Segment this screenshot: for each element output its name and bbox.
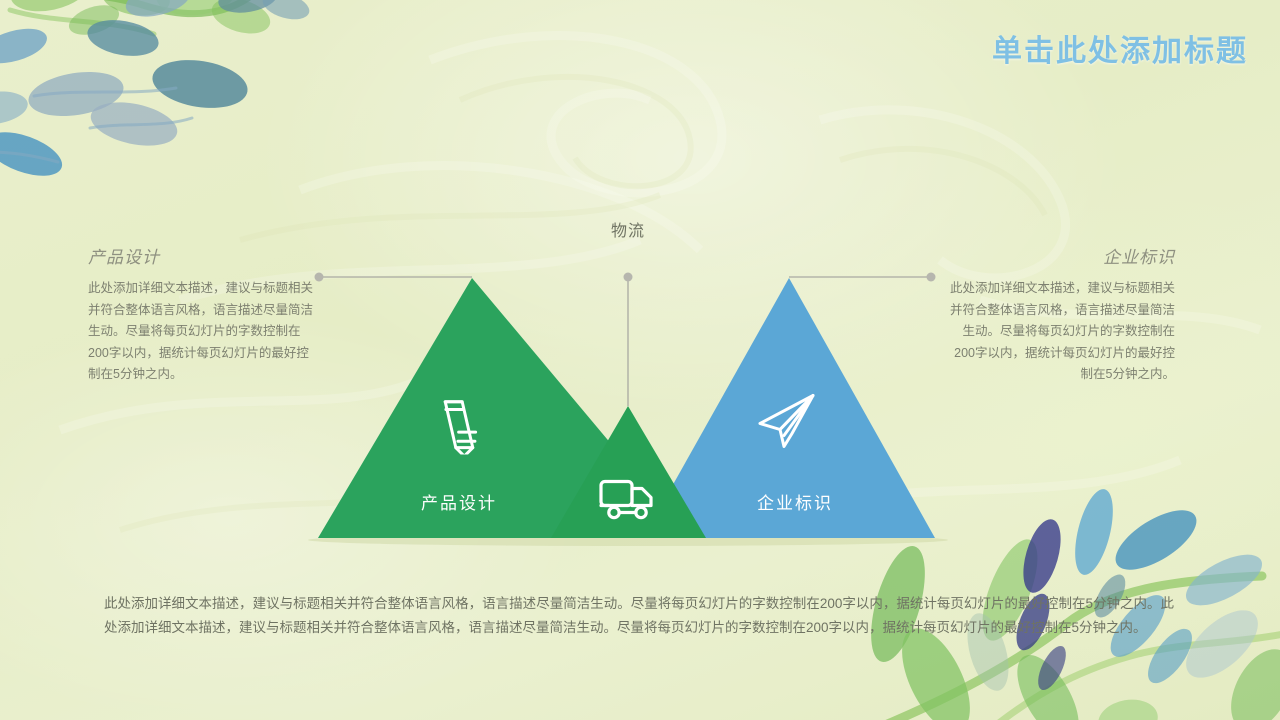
truck-icon <box>598 476 656 527</box>
shape-label-right: 企业标识 <box>757 489 833 514</box>
left-text-block: 产品设计 此处添加详细文本描述，建议与标题相关并符合整体语言风格，语言描述尽量简… <box>88 243 313 386</box>
right-block-heading: 企业标识 <box>950 243 1175 268</box>
paper-plane-icon <box>756 392 820 457</box>
shape-label-left: 产品设计 <box>421 489 497 514</box>
bottom-paragraph: 此处添加详细文本描述，建议与标题相关并符合整体语言风格，语言描述尽量简洁生动。尽… <box>104 592 1174 640</box>
pencil-icon <box>432 389 498 460</box>
right-block-body: 此处添加详细文本描述，建议与标题相关并符合整体语言风格，语言描述尽量简洁生动。尽… <box>950 278 1175 386</box>
middle-top-label: 物流 <box>611 217 645 241</box>
left-block-heading: 产品设计 <box>88 243 313 268</box>
slide-canvas: 单击此处添加标题 <box>0 0 1280 720</box>
right-text-block: 企业标识 此处添加详细文本描述，建议与标题相关并符合整体语言风格，语言描述尽量简… <box>950 243 1175 386</box>
left-block-body: 此处添加详细文本描述，建议与标题相关并符合整体语言风格，语言描述尽量简洁生动。尽… <box>88 278 313 386</box>
